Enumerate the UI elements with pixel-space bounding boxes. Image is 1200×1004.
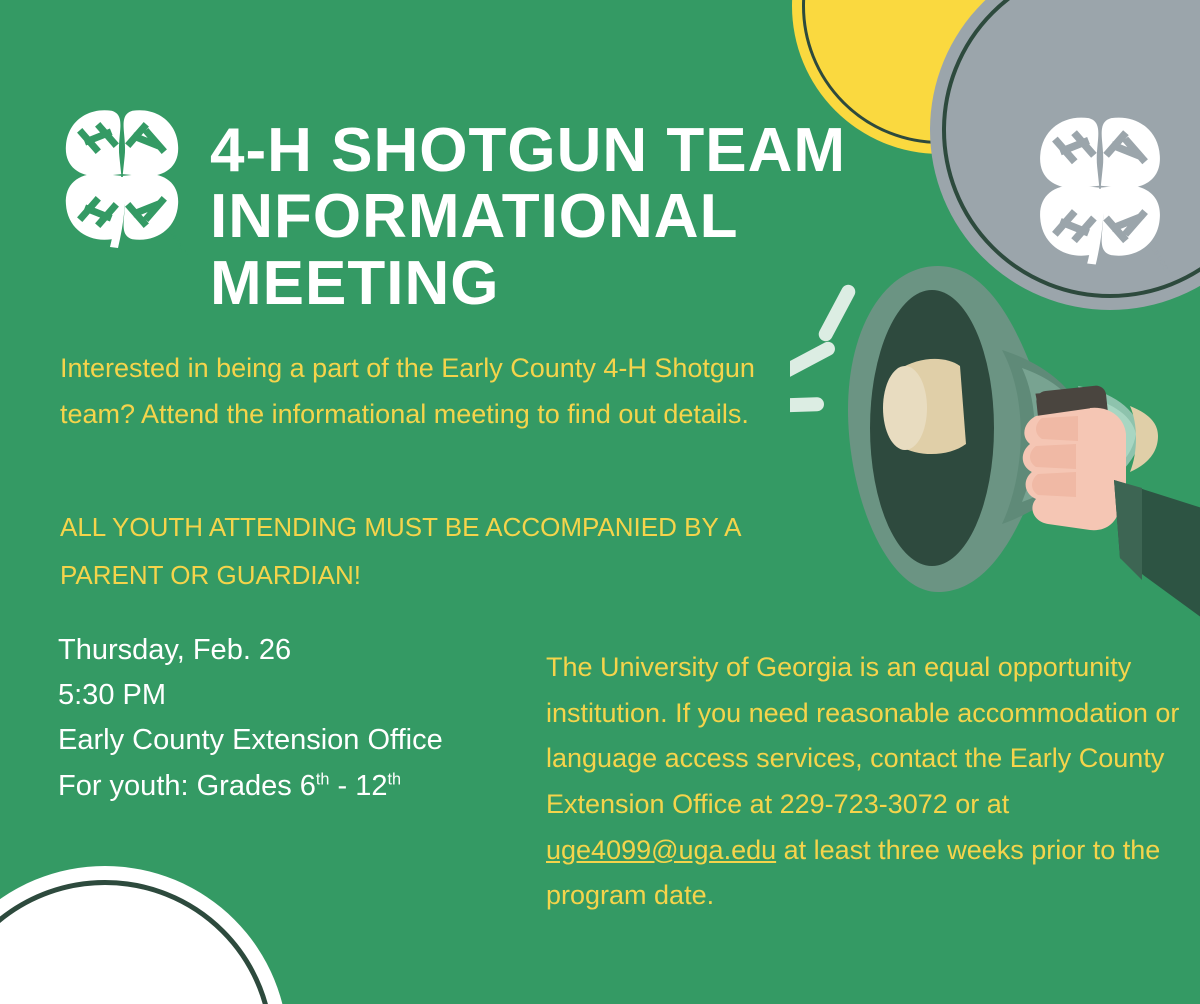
equal-opportunity-disclaimer: The University of Georgia is an equal op…: [546, 645, 1186, 919]
intro-paragraph: Interested in being a part of the Early …: [60, 345, 780, 438]
event-time: 5:30 PM: [58, 673, 528, 718]
title-line-3: MEETING: [210, 251, 1000, 318]
audience-sup-second: th: [387, 770, 401, 788]
title-line-2: INFORMATIONAL: [210, 184, 1000, 251]
event-audience: For youth: Grades 6th - 12th: [58, 764, 528, 809]
disclaimer-text-before-email: The University of Georgia is an equal op…: [546, 652, 1179, 819]
white-circle-ring-decoration: [0, 880, 274, 1004]
page-title: 4-H SHOTGUN TEAM INFORMATIONAL MEETING: [210, 118, 1000, 319]
flyer-canvas: 18 USC 707 18 USC 707 4-H SHOTGUN TEAM I…: [0, 0, 1200, 1004]
clover-microtext: 18 USC 707: [1149, 245, 1177, 272]
audience-prefix: For youth: Grades 6: [58, 770, 316, 802]
event-details-block: Thursday, Feb. 26 5:30 PM Early County E…: [58, 628, 528, 809]
contact-email-link[interactable]: uge4099@uga.edu: [546, 835, 776, 865]
event-location: Early County Extension Office: [58, 718, 528, 763]
parent-guardian-notice: ALL YOUTH ATTENDING MUST BE ACCOMPANIED …: [60, 504, 820, 600]
event-date: Thursday, Feb. 26: [58, 628, 528, 673]
title-line-1: 4-H SHOTGUN TEAM: [210, 118, 1000, 185]
audience-middle: - 12: [329, 770, 387, 802]
four-h-clover-logo-icon: 18 USC 707: [52, 105, 192, 255]
audience-sup-first: th: [316, 770, 330, 788]
clover-microtext: 18 USC 707: [168, 231, 192, 256]
four-h-clover-logo-icon: 18 USC 707: [1022, 112, 1178, 272]
